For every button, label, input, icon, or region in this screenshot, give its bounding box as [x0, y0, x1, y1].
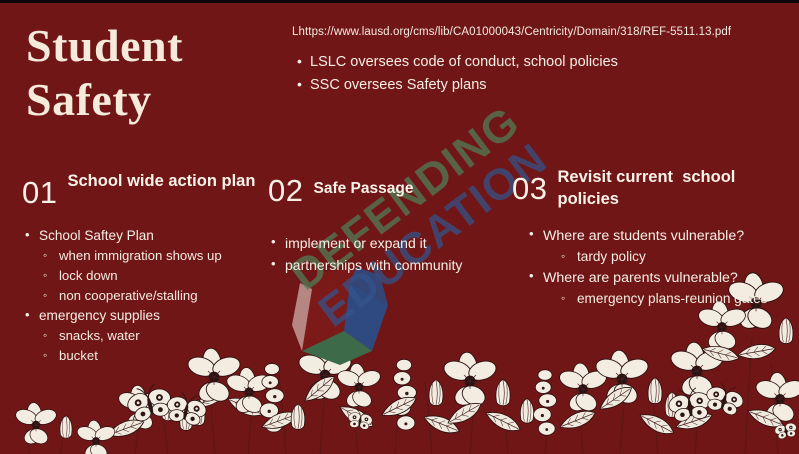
sub-list-item: snacks, water	[39, 326, 264, 346]
butterfly-decoration	[122, 380, 799, 441]
header-bullet-item: SSC oversees Safety plans	[310, 74, 730, 97]
list-item: Where are parents vulnerable? emergency …	[526, 267, 780, 309]
column-01: 01 School wide action plan School Saftey…	[22, 171, 264, 366]
column-01-title: School wide action plan	[67, 171, 255, 193]
source-link[interactable]: Lhttps://www.lausd.org/cms/lib/CA0100004…	[292, 26, 731, 38]
sub-list-item: emergency plans-reunion gates	[557, 289, 780, 309]
title-line-2: Safety	[26, 73, 276, 127]
column-03: 03 Revisit current school policies Where…	[512, 167, 780, 309]
list-item: implement or expand it	[268, 232, 506, 255]
column-02-title: Safe Passage	[313, 173, 413, 199]
presentation-slide: DEFENDING EDUCATION Student Safety Lhttp…	[0, 0, 799, 454]
column-01-bullets: School Saftey Plan when immigration show…	[22, 226, 264, 366]
sub-list-item: non cooperative/stalling	[39, 286, 264, 306]
sub-list-item: tardy policy	[557, 247, 780, 267]
bullet-text: emergency supplies	[39, 308, 160, 323]
sub-list: when immigration shows up lock down non …	[39, 246, 264, 305]
sub-list: emergency plans-reunion gates	[543, 289, 780, 309]
list-item: emergency supplies snacks, water bucket	[22, 306, 264, 366]
bullet-text: Where are students vulnerable?	[543, 228, 744, 244]
column-02-bullets: implement or expand it partnerships with…	[268, 232, 506, 277]
column-02: 02 Safe Passage implement or expand it p…	[268, 173, 506, 277]
sub-list-item: lock down	[39, 266, 264, 286]
list-item: Where are students vulnerable? tardy pol…	[526, 225, 780, 267]
column-03-title: Revisit current school policies	[557, 167, 780, 211]
column-03-number: 03	[512, 167, 547, 206]
column-01-header: 01 School wide action plan	[22, 171, 264, 210]
column-02-header: 02 Safe Passage	[268, 173, 506, 208]
column-02-number: 02	[268, 173, 303, 208]
page-title: Student Safety	[26, 19, 276, 128]
sub-list: tardy policy	[543, 247, 780, 267]
bullet-text: School Saftey Plan	[39, 228, 154, 243]
column-03-bullets: Where are students vulnerable? tardy pol…	[526, 225, 780, 310]
header-bullet-list: LSLC oversees code of conduct, school po…	[292, 51, 730, 98]
sub-list-item: bucket	[39, 346, 264, 366]
list-item: partnerships with community	[268, 254, 506, 277]
header-bullet-item: LSLC oversees code of conduct, school po…	[310, 51, 730, 74]
list-item: School Saftey Plan when immigration show…	[22, 226, 264, 306]
sub-list: snacks, water bucket	[39, 326, 264, 366]
column-03-header: 03 Revisit current school policies	[512, 167, 780, 211]
title-line-1: Student	[26, 19, 276, 73]
sub-list-item: when immigration shows up	[39, 246, 264, 266]
bullet-text: Where are parents vulnerable?	[543, 270, 738, 286]
column-01-number: 01	[22, 171, 57, 210]
